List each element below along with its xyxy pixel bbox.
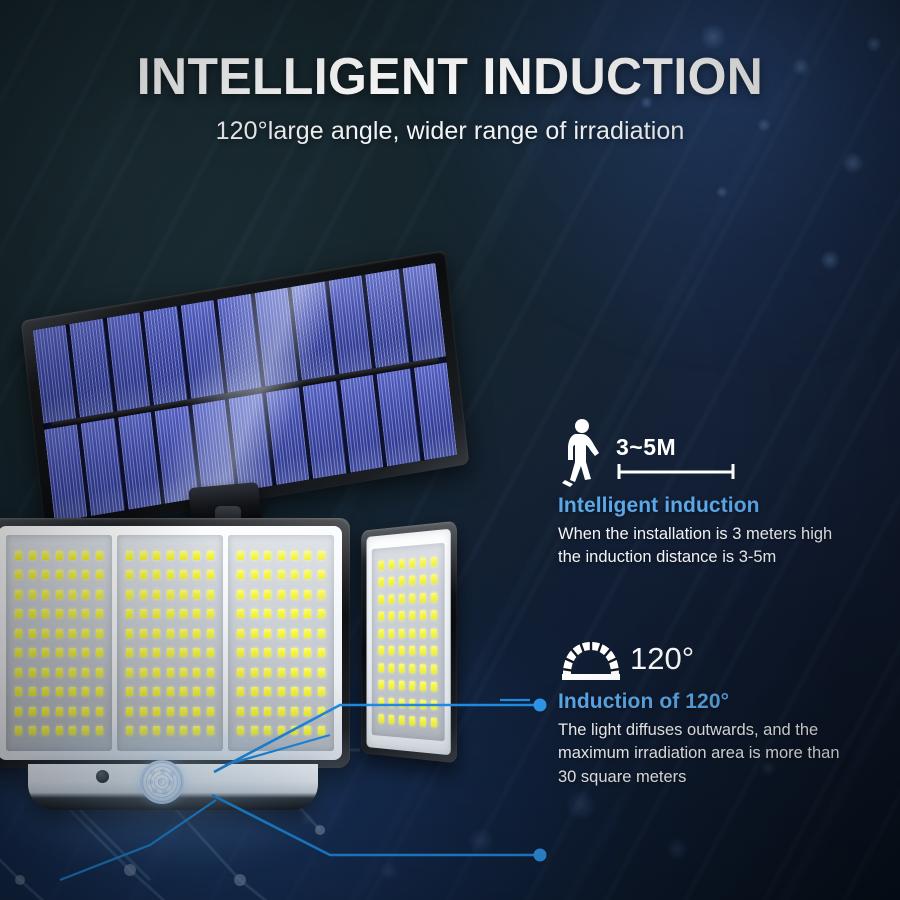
product-infographic: INTELLIGENT INDUCTION 120°large angle, w…	[0, 0, 900, 900]
background-vignette	[0, 0, 900, 900]
